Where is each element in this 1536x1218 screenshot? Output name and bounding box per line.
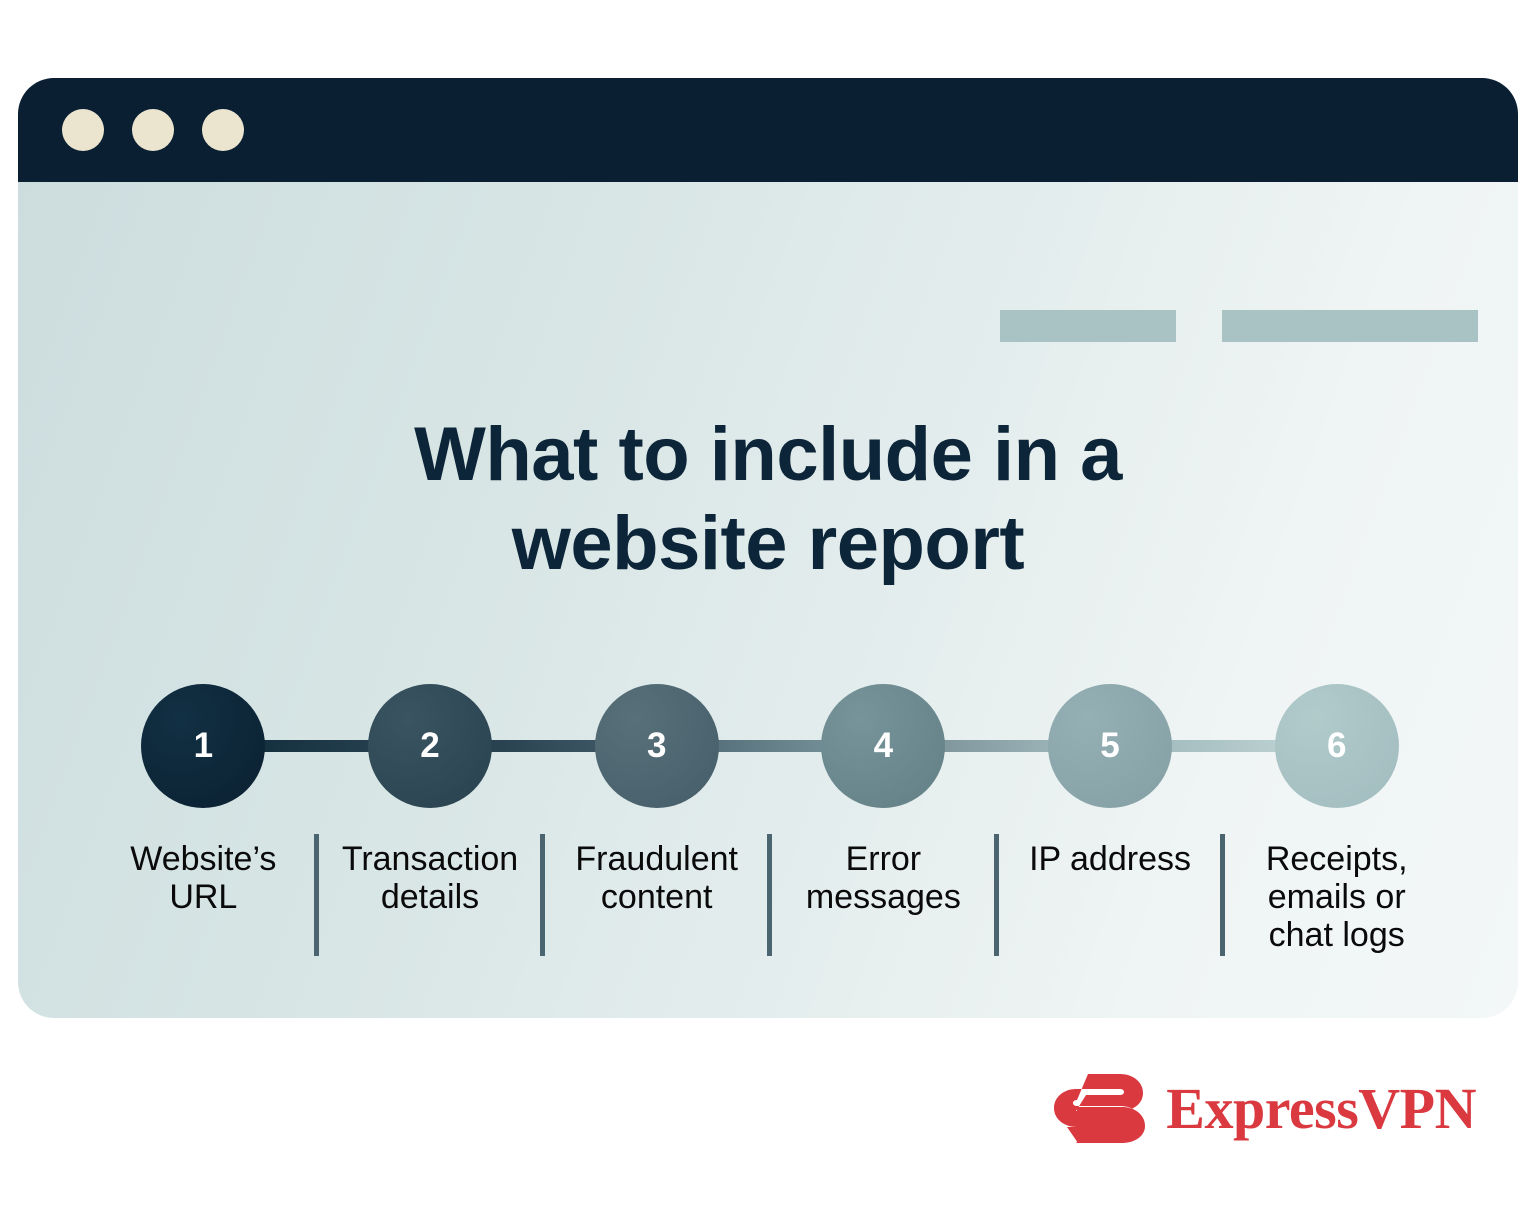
page-title: What to include in a website report bbox=[18, 411, 1518, 589]
step-circle-6[interactable]: 6 bbox=[1275, 684, 1399, 808]
step-item-2: 2 Transaction details bbox=[317, 684, 544, 916]
traffic-light-dot-3-icon[interactable] bbox=[202, 109, 244, 151]
step-circle-3[interactable]: 3 bbox=[595, 684, 719, 808]
traffic-light-dot-1-icon[interactable] bbox=[62, 109, 104, 151]
brand-name: ExpressVPN bbox=[1166, 1080, 1476, 1138]
step-number-1: 1 bbox=[194, 726, 213, 766]
step-item-6: 6 Receipts, emails or chat logs bbox=[1223, 684, 1450, 954]
browser-window: What to include in a website report 1 We… bbox=[18, 78, 1518, 1018]
step-circle-2[interactable]: 2 bbox=[368, 684, 492, 808]
step-item-3: 3 Fraudulent content bbox=[543, 684, 770, 916]
step-list: 1 Website’s URL 2 Transaction details 3 bbox=[90, 684, 1450, 954]
step-number-4: 4 bbox=[874, 726, 893, 766]
step-label-3: Fraudulent content bbox=[575, 840, 738, 916]
placeholder-bar-short bbox=[1000, 310, 1176, 342]
window-titlebar bbox=[18, 78, 1518, 182]
step-number-2: 2 bbox=[420, 726, 439, 766]
step-divider-2 bbox=[314, 834, 319, 956]
step-label-4: Error messages bbox=[806, 840, 961, 916]
step-label-5: IP address bbox=[1029, 840, 1191, 878]
traffic-light-dot-2-icon[interactable] bbox=[132, 109, 174, 151]
step-divider-3 bbox=[540, 834, 545, 956]
expressvpn-e-mark-icon bbox=[1054, 1074, 1150, 1144]
step-circle-4[interactable]: 4 bbox=[821, 684, 945, 808]
step-divider-4 bbox=[767, 834, 772, 956]
step-item-1: 1 Website’s URL bbox=[90, 684, 317, 916]
step-divider-5 bbox=[994, 834, 999, 956]
step-number-3: 3 bbox=[647, 726, 666, 766]
placeholder-bar-long bbox=[1222, 310, 1478, 342]
step-number-5: 5 bbox=[1100, 726, 1119, 766]
step-circle-1[interactable]: 1 bbox=[141, 684, 265, 808]
step-item-5: 5 IP address bbox=[997, 684, 1224, 878]
step-item-4: 4 Error messages bbox=[770, 684, 997, 916]
step-divider-6 bbox=[1220, 834, 1225, 956]
step-circle-5[interactable]: 5 bbox=[1048, 684, 1172, 808]
infographic-canvas: What to include in a website report 1 We… bbox=[18, 182, 1518, 1018]
step-number-6: 6 bbox=[1327, 726, 1346, 766]
step-label-6: Receipts, emails or chat logs bbox=[1266, 840, 1408, 954]
brand-logo: ExpressVPN bbox=[1054, 1074, 1476, 1144]
step-label-1: Website’s URL bbox=[130, 840, 276, 916]
step-label-2: Transaction details bbox=[342, 840, 518, 916]
